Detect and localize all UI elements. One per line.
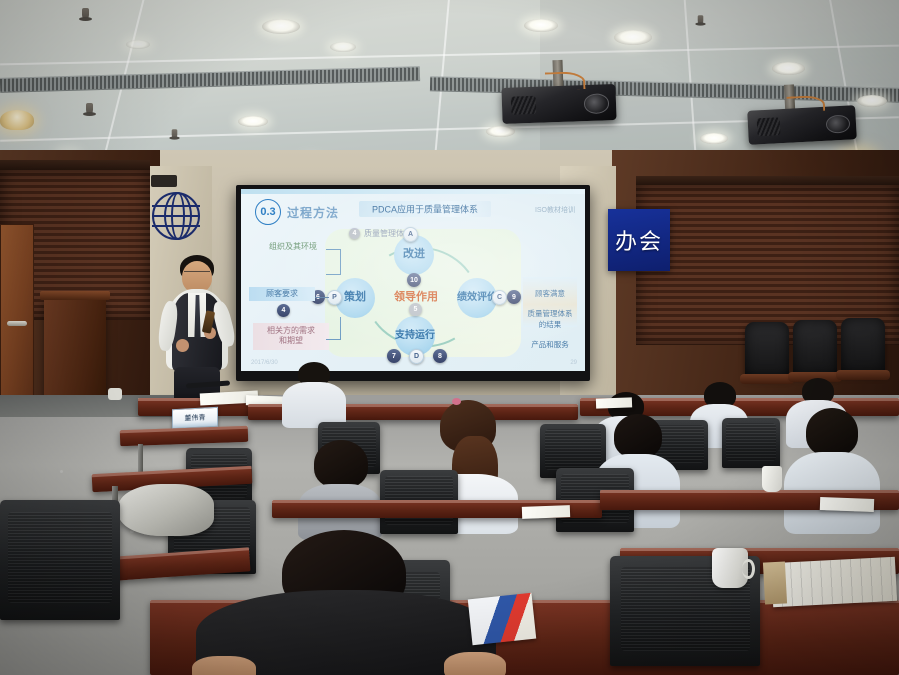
slide-footer-right: 29 (570, 360, 577, 366)
slide-banner-title: PDCA应用于质量管理体系 (359, 201, 491, 217)
executive-chair[interactable] (841, 318, 885, 374)
slide-corner-note: ISO教材培训 (535, 205, 575, 215)
podium-top (40, 291, 110, 300)
node-plan-letter: P (327, 290, 342, 305)
coffee-mug (712, 548, 748, 588)
left-box-environment: 组织及其环境 (253, 242, 333, 252)
node-act-letter: A (403, 227, 418, 242)
attendee-hair (614, 414, 662, 458)
sprinkler-head (82, 8, 89, 20)
blind-headrail (0, 160, 150, 170)
podium (44, 298, 106, 402)
name-placard: 董伟青 (172, 407, 218, 429)
executive-chair[interactable] (793, 320, 837, 376)
projector-vent (756, 117, 781, 136)
connector-bracket (326, 317, 341, 340)
executive-chair[interactable] (745, 322, 789, 378)
attendee (282, 362, 346, 420)
slide-section-number: 0.3 (255, 199, 281, 225)
glasses-icon (184, 271, 210, 277)
room-door[interactable] (0, 224, 34, 402)
ceiling-downlight (857, 95, 887, 107)
desk-object (108, 388, 122, 400)
projector-vent (511, 95, 537, 115)
banner-text: 办会 (608, 224, 670, 256)
node-check-label: 绩效评价 (457, 293, 497, 304)
sprinkler-head (698, 15, 704, 25)
left-box-interested-parties: 相关方的需求 和期望 (253, 323, 329, 350)
slide-topbar (241, 189, 585, 194)
globe-logo-icon (152, 192, 200, 240)
slide-section-title: 过程方法 (287, 204, 339, 221)
sprinkler-head (86, 103, 93, 115)
left-box-customer-badge: 4 (277, 304, 290, 317)
conference-room-photo: 办会 0.3 过程方法 PDCA应用于质量管理体系 ISO教材培训 4 质量管理… (0, 0, 899, 675)
node-check-badge: 9 (507, 290, 521, 304)
door-handle-icon[interactable] (7, 321, 27, 326)
ceiling-downlight (330, 42, 356, 52)
slide-content: 0.3 过程方法 PDCA应用于质量管理体系 ISO教材培训 4 质量管理体系 … (241, 189, 585, 371)
connector-bracket (326, 249, 341, 275)
right-outcome-1: 顾客满意 (523, 289, 577, 299)
ceiling-downlight (262, 19, 300, 34)
node-check-letter: C (492, 290, 507, 305)
node-act-label: 改进 (403, 249, 425, 261)
node-do-label: 支持运行 (395, 331, 435, 342)
booklet-on-desk (468, 593, 536, 645)
chair[interactable] (0, 500, 120, 620)
center-label: 领导作用 (385, 288, 447, 304)
attendee (298, 440, 382, 536)
ceiling-downlight (238, 116, 268, 127)
node-do-letter: D (409, 349, 424, 364)
chair[interactable] (722, 418, 780, 468)
slide-footer-left: 2017/6/30 (251, 360, 278, 366)
paper-cup (762, 466, 782, 492)
ceiling-downlight (772, 62, 805, 75)
bag-on-desk (118, 484, 214, 536)
node-act-badge: 10 (407, 273, 421, 287)
attendee-arm (444, 652, 506, 675)
qms-badge: 4 (349, 228, 360, 239)
ceiling-projector (747, 105, 857, 145)
center-badge: 5 (409, 303, 422, 316)
node-do-badge: 7 (387, 349, 401, 363)
attendee-hair (806, 408, 858, 456)
attendee-arm (192, 656, 256, 675)
node-do-badge-2: 8 (433, 349, 447, 363)
ceiling-projector (501, 84, 616, 124)
attendee-hair (314, 440, 368, 488)
sprinkler-head (172, 129, 178, 139)
ceiling-downlight (126, 40, 150, 49)
open-notebook (771, 557, 897, 607)
papers (596, 397, 632, 408)
node-check: 绩效评价 (457, 278, 497, 318)
wall-speaker (151, 175, 177, 187)
notebook-cover (763, 561, 787, 604)
presenter-hand-left (176, 339, 189, 352)
ceiling-downlight (524, 19, 558, 32)
node-plan-label: 策划 (344, 292, 366, 304)
left-box-customer: 顾客要求 (249, 287, 315, 301)
papers (522, 505, 570, 519)
connector-arrow (315, 297, 329, 298)
papers (820, 497, 874, 512)
right-outcomes: 顾客满意 质量管理体系 的结果 产品和服务 (523, 277, 577, 327)
attendee-foreground (196, 530, 496, 675)
wall-lamp (0, 110, 34, 130)
ceiling-downlight (486, 126, 515, 137)
right-outcome-3: 产品和服务 (523, 340, 577, 350)
slide-banner-text: PDCA应用于质量管理体系 (359, 203, 491, 216)
right-outcome-2: 质量管理体系 的结果 (523, 309, 577, 329)
notebook-lines (771, 557, 897, 607)
name-placard-text: 董伟青 (173, 412, 217, 424)
hair-tie (452, 398, 461, 405)
wall-banner: 办会 (608, 209, 670, 271)
blind-headrail (636, 176, 899, 185)
ceiling-downlight (700, 133, 728, 144)
ceiling-downlight (614, 30, 652, 45)
